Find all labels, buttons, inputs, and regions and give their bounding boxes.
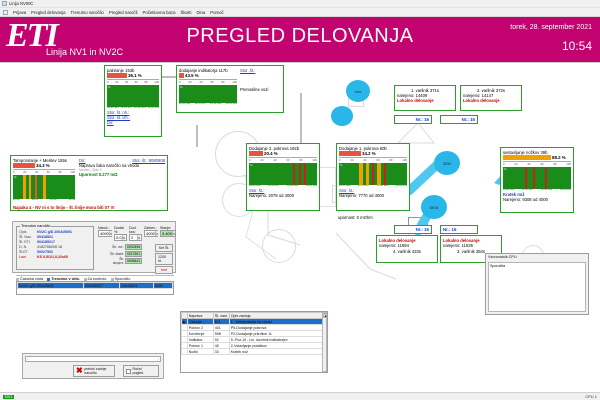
axis-tick: 60 xyxy=(286,158,289,162)
axis-tick: 60 xyxy=(376,158,379,162)
time-tick: 10:30 400 xyxy=(287,185,299,188)
machine-box-tamponiranje[interactable]: Tamponiranje + Meritev 155s 34.3 % 0 20 … xyxy=(10,155,168,211)
cell-desc: Kratek nož xyxy=(229,349,326,355)
counter-label: Štr. škarti: xyxy=(109,252,124,256)
machine-history-chart: Te xyxy=(13,175,75,199)
machine-history-chart: Te xyxy=(249,163,317,185)
machine-made: Narejeno: 2079 od 4000 xyxy=(249,193,317,198)
cpu-sampler-body: Sporočila xyxy=(488,262,586,312)
red-x-icon: ✖ xyxy=(76,367,83,375)
chart-label: Te xyxy=(14,175,17,179)
welder-mode: Lokalno delovanje xyxy=(397,98,453,103)
cancel-order-button[interactable]: ✖ prekini zadnje naročilo xyxy=(73,365,115,377)
dir-link[interactable]: Dir: xyxy=(107,120,159,125)
time-tick: 10:15 xyxy=(32,199,39,202)
spinner-value: 3.400 xyxy=(162,231,172,236)
machine-utilization: 34.2 % xyxy=(339,151,407,156)
order-group: Trenutno naročilo Opis NV2C g/D 200A/569… xyxy=(16,226,94,270)
utilization-value: 43.5 % xyxy=(185,73,199,78)
axis-tick: 100 xyxy=(312,158,317,162)
utilization-value: 88.2 % xyxy=(552,155,566,160)
counter-row: Štr. nor.: 0002496 xyxy=(109,244,142,250)
field-value: KS 0,5/1/1,0,22x60 xyxy=(37,255,68,260)
status-right: CPU 1 xyxy=(585,394,597,399)
axis-tick: 20 xyxy=(350,158,353,162)
machine-alarm: Napaka 4 - NV ni s to linijo - št. linij… xyxy=(13,205,115,210)
welder-mode: Lokalno delovanje xyxy=(463,98,519,103)
line-label: Linija NV1 in NV2C xyxy=(46,47,123,57)
menu-item-pregled-narocil[interactable]: Pregled naročil xyxy=(109,10,138,15)
app-menu-icon[interactable] xyxy=(3,10,8,15)
menu-item-dina[interactable]: Dina xyxy=(196,10,205,15)
queue-cell: NV2C g/D 200A/5691 xyxy=(18,283,84,289)
spinner-input-dodatek[interactable]: 0.0⇅ xyxy=(114,234,127,241)
machine-history-chart: Te xyxy=(503,167,571,189)
spinner-input-stanje[interactable]: 3.400⇅ xyxy=(160,230,176,237)
chart-label: Te xyxy=(250,163,253,167)
time-tick: 10:30 400 xyxy=(541,189,553,192)
machine-made: Narejeno: 9308 od 4000 xyxy=(503,197,571,202)
axis-tick: 20 xyxy=(115,80,118,84)
scroll-left-icon[interactable]: ‹ xyxy=(27,357,28,361)
chart-label: Te xyxy=(504,167,507,171)
axis-tick: 80 xyxy=(553,162,556,166)
time-tick: 10:45 401 xyxy=(225,103,237,106)
axis-tick: 60 xyxy=(210,80,213,84)
time-tick: 10:30 xyxy=(50,199,57,202)
chart-axis: 0 20 40 60 80 100 xyxy=(13,169,75,174)
scroll-right-icon[interactable]: › xyxy=(158,357,159,361)
counter-row: Štr. skupno: 0005441 xyxy=(109,257,142,265)
welder-made: narejeno: 11994 xyxy=(379,243,435,248)
application-window: Linija NV00C Prijava Pregled delovanja T… xyxy=(0,0,600,400)
spinner-value: 2 xyxy=(131,235,133,240)
axis-tick: 0 xyxy=(339,158,341,162)
axis-tick: 80 xyxy=(145,80,148,84)
machine-box-nozki[interactable]: sestavljanje nožkov 39b 88.2 % 0 20 40 6… xyxy=(500,147,574,213)
spinner-dodatek: Dodat. %: 0.0⇅ xyxy=(114,226,127,241)
axis-tick: 60 xyxy=(47,170,50,174)
machine-title: dodajanje indikatorja 117b xyxy=(179,68,237,73)
machine-utilization: 88.2 % xyxy=(503,155,571,160)
utilization-bar xyxy=(249,151,263,156)
utilization-value: 34.2 % xyxy=(362,151,376,156)
axis-tick: 40 xyxy=(35,170,38,174)
stor-st-link[interactable]: Stor. št.: xyxy=(240,68,281,73)
grid-scrollbar[interactable]: ▲ xyxy=(322,312,327,372)
qty-button[interactable]: 1200 št. xyxy=(155,253,173,265)
machine-utilization: 20.4 % xyxy=(249,151,317,156)
cell-naprava: Nožki xyxy=(187,349,213,355)
welder-made: narejeno: 11635 xyxy=(443,243,499,248)
manual-view-label: Ročni pogled xyxy=(133,367,144,375)
stor-st-link[interactable]: Stor. št.: 8080808 xyxy=(132,158,165,163)
menu-item-trenutno-narocilo[interactable]: Trenutno naročilo xyxy=(71,10,104,15)
machine-title: Dodajanje 1. pokrova 60b xyxy=(339,146,407,151)
axis-tick: 60 xyxy=(135,80,138,84)
time-tick: 10:30 400 xyxy=(377,185,389,188)
machine-box-pakiranje[interactable]: pakiranje 153b 36.1 % 0 20 40 60 80 100 … xyxy=(104,65,162,137)
machine-title: sestavljanje nožkov 39b xyxy=(503,150,571,155)
axis-tick: 80 xyxy=(299,158,302,162)
utilization-bar xyxy=(13,163,35,168)
machine-box-pokrov1[interactable]: Dodajanje 1. pokrova 60b 34.2 % 0 20 40 … xyxy=(336,143,410,211)
window-title: Linija NV00C xyxy=(9,1,33,6)
time-tick: 10:30 400 xyxy=(210,103,222,106)
spinner-label: Dod. kos: xyxy=(129,226,142,234)
queue-cell: 4000 xyxy=(153,283,172,289)
time-tick: 10:30 400 xyxy=(134,107,146,110)
spinner-dodkos: Dod. kos: 2⇅ xyxy=(129,226,142,241)
bottom-toolbar: ‹ › ✖ prekini zadnje naročilo Ročni pogl… xyxy=(22,353,164,379)
queue-cell: 004185217 xyxy=(83,283,120,289)
chart-time-labels: 10:00 409 10:15 407 10:30 400 10:45 401 xyxy=(179,103,237,106)
machine-box-indikator[interactable]: dodajanje indikatorja 117b 43.5 % 0 20 4… xyxy=(176,65,284,113)
spinner-label: Dodat. %: xyxy=(114,226,127,234)
axis-tick: 20 xyxy=(514,162,517,166)
time-tick: 10:00 409 xyxy=(179,103,191,106)
manual-view-button[interactable]: Ročni pogled xyxy=(123,365,159,377)
welder-box-4[interactable]: Lokalno delovanje narejeno: 11994 4. var… xyxy=(376,235,438,263)
time-tick: 10:00 xyxy=(13,199,20,202)
table-row[interactable]: Nožki 33 Kratek nož xyxy=(182,349,327,355)
counter-label: Štr. nor.: xyxy=(109,245,124,249)
machine-box-pokrov2[interactable]: Dodajanje 2. pokrova 192b 20.4 % 0 20 40… xyxy=(246,143,320,211)
counter-value: 0217501 xyxy=(125,251,142,257)
utilization-bar xyxy=(339,151,361,156)
header-date: torek, 28. september 2021 xyxy=(510,24,592,31)
menu-item-pocetkovna-baza[interactable]: Početkovna baza xyxy=(143,10,176,15)
welder-title: 4. varilnik 423s xyxy=(379,249,435,254)
spinner-label: Zahtev.: xyxy=(144,226,158,230)
machine-title: Tamponiranje + Meritev 155s xyxy=(13,158,75,163)
test-button[interactable]: test xyxy=(155,266,173,274)
window-titlebar: Linija NV00C xyxy=(0,0,600,8)
chart-axis: 0 20 40 60 80 100 xyxy=(503,161,571,166)
axis-tick: 0 xyxy=(107,80,109,84)
axis-tick: 80 xyxy=(221,80,224,84)
counter-row: Štr. škarti: 0217501 xyxy=(109,251,142,257)
welder-nr-4[interactable]: Nr.: 16 xyxy=(394,225,432,234)
page-header: ETI Linija NV1 in NV2C PREGLED DELOVANJA… xyxy=(0,17,600,62)
axis-tick: 40 xyxy=(363,158,366,162)
chart-axis: 0 20 40 60 80 100 xyxy=(249,157,317,162)
spinner-input-dodkos[interactable]: 2⇅ xyxy=(129,234,142,241)
axis-tick: 60 xyxy=(540,162,543,166)
order-queue-list[interactable]: NV2C g/D 200A/5691 004185217 00418521 40… xyxy=(16,281,174,295)
machine-utilization: 43.5 % xyxy=(179,73,237,78)
time-tick: 10:45 401 xyxy=(559,189,571,192)
chart-label: Te xyxy=(180,85,183,89)
order-field-row: Lam. KS 0,5/1/1,0,22x60 xyxy=(19,255,91,260)
cpu-sampler-panel[interactable]: Vzorovalnik CPU Sporočila xyxy=(485,253,589,315)
time-tick: 10:45 401 xyxy=(147,107,159,110)
spinner-input-naroceno[interactable]: 4000⇅ xyxy=(98,230,112,237)
process-diagram: tras stav tana xyxy=(0,62,600,392)
counter-value: 0002496 xyxy=(125,244,142,250)
axis-tick: 20 xyxy=(260,158,263,162)
time-tick: 10:45 401 xyxy=(395,185,407,188)
machine-measurement: Upornost 0.277 mΩ xyxy=(79,172,165,177)
field-key: Lam. xyxy=(19,255,37,260)
chart-axis: 0 20 40 60 80 100 xyxy=(179,79,237,84)
chart-axis: 0 20 40 60 80 100 xyxy=(107,79,159,84)
header-time: 10:54 xyxy=(562,39,592,53)
utilization-value: 34.3 % xyxy=(36,163,50,168)
axis-tick: 100 xyxy=(402,158,407,162)
order-group-label: Trenutno naročilo xyxy=(20,224,51,228)
machine-made: Narejeno: 7770 od 4000 xyxy=(339,193,407,198)
axis-tick: 0 xyxy=(13,170,15,174)
machine-title: pakiranje 153b xyxy=(107,68,159,73)
table-row[interactable]: NV2C g/D 200A/5691 004185217 00418521 40… xyxy=(18,283,173,289)
spinner-value: 4000 xyxy=(100,231,109,236)
axis-tick: 80 xyxy=(59,170,62,174)
machine-history-chart: Te xyxy=(107,85,159,107)
machine-history-chart: Te xyxy=(339,163,407,185)
spinner-narocено: Naroč.: 4000⇅ xyxy=(98,226,112,241)
welder-box-1[interactable]: 1. varilnik 371s narejeno: 14409 Lokalno… xyxy=(394,85,456,111)
menu-item-skarti[interactable]: Škarti xyxy=(180,10,191,15)
horizontal-scrollbar[interactable]: ‹ › xyxy=(25,356,161,362)
welder-nr-2[interactable]: Nr.: 16 xyxy=(440,115,478,124)
chart-axis: 0 20 40 60 80 100 xyxy=(339,157,407,162)
window-icon xyxy=(2,1,7,6)
time-tick: 10:15 407 xyxy=(268,185,280,188)
axis-tick: 100 xyxy=(566,162,571,166)
counter-value: 0005441 xyxy=(125,258,142,264)
machine-title: Dodajanje 2. pokrova 192b xyxy=(249,146,317,151)
utilization-bar xyxy=(503,155,551,160)
status-left: NV1 xyxy=(3,395,14,399)
utilization-value: 20.4 % xyxy=(264,151,278,156)
spinner-input-zahtevano[interactable]: 4000⇅ xyxy=(144,230,158,237)
axis-tick: 40 xyxy=(273,158,276,162)
time-tick: 10:45 401 xyxy=(305,185,317,188)
axis-tick: 80 xyxy=(389,158,392,162)
axis-tick: 40 xyxy=(199,80,202,84)
cancel-order-label: prekini zadnje naročilo xyxy=(84,367,106,375)
spinner-value: 4000 xyxy=(146,231,155,236)
utilization-bar xyxy=(179,73,184,78)
axis-tick: 20 xyxy=(23,170,26,174)
axis-tick: 0 xyxy=(249,158,251,162)
welder-nr-3[interactable]: Nr.: 16 xyxy=(440,225,478,234)
cell-count: 33 xyxy=(213,349,229,355)
statusbar: NV1 CPU 1 xyxy=(0,392,600,400)
chart-label: Te xyxy=(108,85,111,89)
welder-box-2[interactable]: 2. varilnik 372s narejeno: 14147 Lokalno… xyxy=(460,85,522,111)
time-tick: 10:15 407 xyxy=(358,185,370,188)
machine-note: Prenosilne vozi xyxy=(240,87,281,92)
chart-time-labels: 10:00 10:15 10:30 10:45 xyxy=(13,199,75,202)
set-st-button[interactable]: Set Št. xyxy=(155,244,173,252)
welder-nr-1[interactable]: Nr.: 16 xyxy=(394,115,432,124)
machine-utilization: 34.3 % xyxy=(13,163,75,168)
machine-utilization: 36.1 % xyxy=(107,73,159,78)
machine-resistance: upornost: 0 mOhm xyxy=(338,215,373,220)
utilization-value: 36.1 % xyxy=(128,73,142,78)
counter-label: Štr. skupno: xyxy=(109,257,124,265)
checkbox-icon[interactable] xyxy=(126,369,131,374)
dir-link[interactable]: Dir: xyxy=(79,158,86,163)
menu-item-pomoc[interactable]: Pomoč xyxy=(210,10,223,15)
menubar: Prijava Pregled delovanja Trenutno naroč… xyxy=(0,8,600,17)
menu-item-pregled-delovanja[interactable]: Pregled delovanja xyxy=(31,10,65,15)
utilization-bar xyxy=(107,73,127,78)
time-tick: 10:15 407 xyxy=(194,103,206,106)
axis-tick: 0 xyxy=(179,80,181,84)
cpu-sampler-title: Vzorovalnik CPU xyxy=(486,254,588,260)
axis-tick: 40 xyxy=(125,80,128,84)
axis-tick: 40 xyxy=(527,162,530,166)
axis-tick: 0 xyxy=(503,162,505,166)
downtime-grid[interactable]: Naprava Št. zast. Opis zastoja ▶ Tiskanj… xyxy=(180,311,328,373)
chart-label: Te xyxy=(340,163,343,167)
axis-tick: 100 xyxy=(154,80,159,84)
machine-history-chart: Te xyxy=(179,85,237,103)
queue-cell: 00418521 xyxy=(120,283,153,289)
spinner-value: 0.0 xyxy=(116,235,122,240)
menu-item-prijava[interactable]: Prijava xyxy=(13,10,26,15)
spinner-stanje: Stanje: 3.400⇅ xyxy=(160,226,176,241)
order-panel: Trenutno naročilo Opis NV2C g/D 200A/569… xyxy=(12,221,176,273)
axis-tick: 20 xyxy=(188,80,191,84)
spinner-zahtevano: Zahtev.: 4000⇅ xyxy=(144,226,158,241)
